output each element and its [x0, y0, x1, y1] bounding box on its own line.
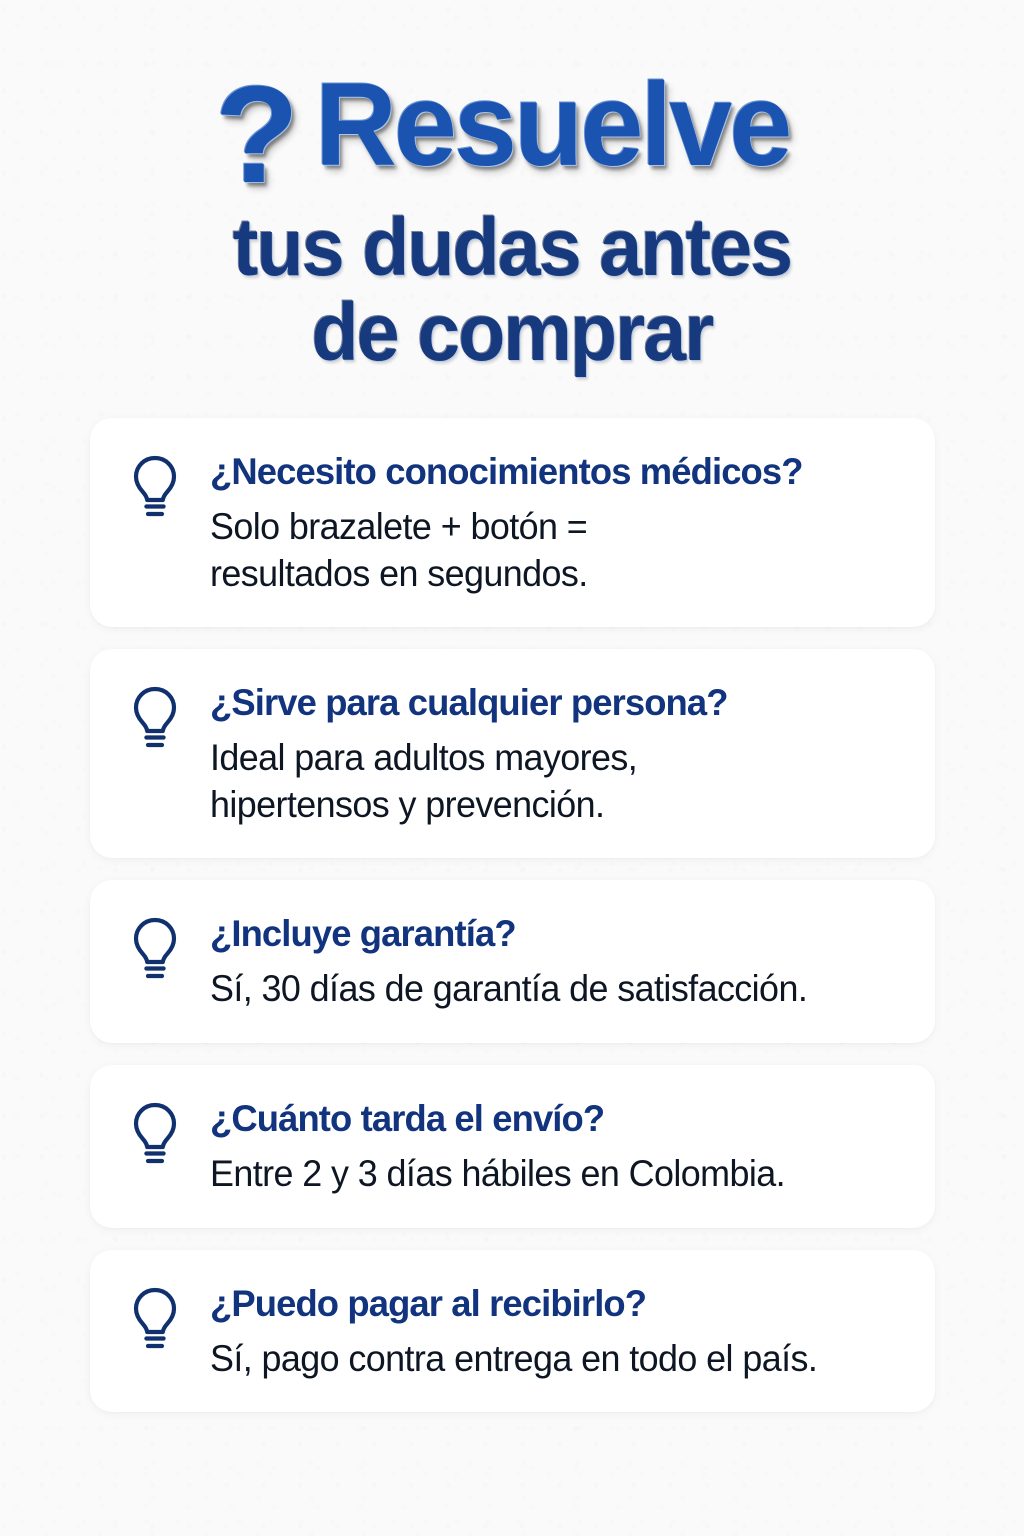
faq-answer: Sí, pago contra entrega en todo el país.: [210, 1336, 880, 1383]
subtitle-line-2: de comprar: [31, 290, 994, 375]
faq-question: ¿Necesito conocimientos médicos?: [210, 450, 880, 492]
faq-infographic: ? Resuelve tus dudas antes de comprar ¿N…: [0, 0, 1024, 1536]
faq-list: ¿Necesito conocimientos médicos? Solo br…: [90, 418, 935, 1412]
lightbulb-icon: [124, 1280, 186, 1354]
faq-text: ¿Cuánto tarda el envío? Entre 2 y 3 días…: [210, 1095, 901, 1198]
lightbulb-icon: [124, 448, 186, 522]
title-row: ? Resuelve: [0, 66, 1024, 197]
faq-answer-line: Entre 2 y 3 días hábiles en Colombia.: [210, 1151, 880, 1198]
faq-answer-line: Solo brazalete + botón =: [210, 504, 880, 551]
faq-question: ¿Puedo pagar al recibirlo?: [210, 1282, 880, 1324]
faq-answer: Solo brazalete + botón = resultados en s…: [210, 504, 880, 597]
faq-item[interactable]: ¿Incluye garantía? Sí, 30 días de garant…: [90, 880, 935, 1043]
faq-question: ¿Incluye garantía?: [210, 912, 880, 954]
faq-answer: Ideal para adultos mayores, hipertensos …: [210, 735, 880, 828]
faq-answer-line: hipertensos y prevención.: [210, 782, 880, 829]
faq-item[interactable]: ¿Puedo pagar al recibirlo? Sí, pago cont…: [90, 1250, 935, 1413]
faq-answer-line: Sí, 30 días de garantía de satisfacción.: [210, 966, 880, 1013]
faq-question: ¿Sirve para cualquier persona?: [210, 681, 880, 723]
faq-answer: Entre 2 y 3 días hábiles en Colombia.: [210, 1151, 880, 1198]
lightbulb-icon: [124, 1095, 186, 1169]
faq-item[interactable]: ¿Cuánto tarda el envío? Entre 2 y 3 días…: [90, 1065, 935, 1228]
faq-answer-line: Ideal para adultos mayores,: [210, 735, 880, 782]
faq-answer-line: Sí, pago contra entrega en todo el país.: [210, 1336, 880, 1383]
faq-text: ¿Sirve para cualquier persona? Ideal par…: [210, 679, 901, 828]
faq-text: ¿Necesito conocimientos médicos? Solo br…: [210, 448, 901, 597]
faq-answer: Sí, 30 días de garantía de satisfacción.: [210, 966, 880, 1013]
faq-answer-line: resultados en segundos.: [210, 551, 880, 598]
faq-item[interactable]: ¿Sirve para cualquier persona? Ideal par…: [90, 649, 935, 858]
subtitle-line-1: tus dudas antes: [31, 205, 994, 290]
faq-text: ¿Incluye garantía? Sí, 30 días de garant…: [210, 910, 901, 1013]
question-mark-icon: ?: [215, 70, 297, 201]
page-title: Resuelve: [315, 66, 789, 184]
faq-item[interactable]: ¿Necesito conocimientos médicos? Solo br…: [90, 418, 935, 627]
faq-question: ¿Cuánto tarda el envío?: [210, 1097, 880, 1139]
lightbulb-icon: [124, 679, 186, 753]
faq-text: ¿Puedo pagar al recibirlo? Sí, pago cont…: [210, 1280, 901, 1383]
lightbulb-icon: [124, 910, 186, 984]
page-subtitle: tus dudas antes de comprar: [31, 205, 994, 376]
header: ? Resuelve tus dudas antes de comprar: [0, 0, 1024, 376]
